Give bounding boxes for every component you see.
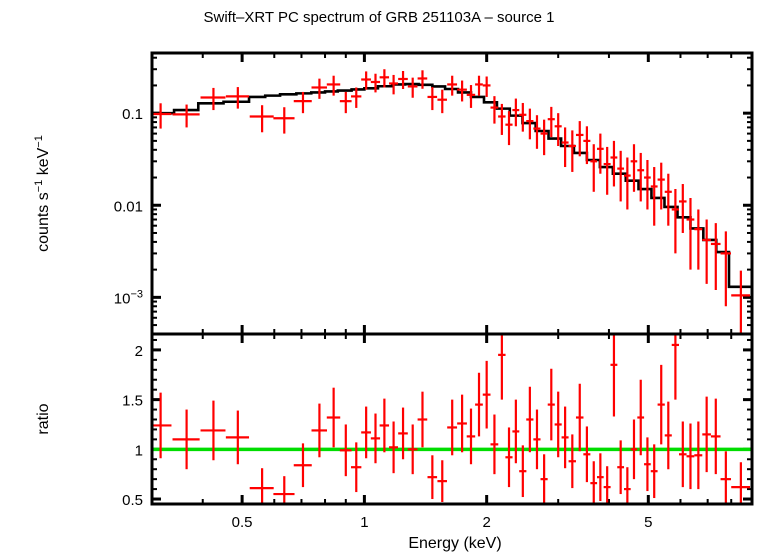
spectrum-panel: 0.10.0110−3 — [114, 53, 752, 334]
y-axis-label-ratio: ratio — [35, 403, 52, 434]
page-title: Swift–XRT PC spectrum of GRB 251103A – s… — [203, 9, 554, 26]
y-tick-label-ratio: 1.5 — [122, 393, 143, 410]
y-axis-label-spectrum: counts s−1 keV−1 — [33, 135, 52, 252]
y-tick-label-spectrum: 0.1 — [122, 106, 143, 123]
spectrum-plot: Swift–XRT PC spectrum of GRB 251103A – s… — [0, 0, 758, 556]
ratio-panel: 0.512521.510.5 — [122, 290, 752, 531]
chart-canvas: Swift–XRT PC spectrum of GRB 251103A – s… — [0, 0, 758, 556]
y-tick-label-spectrum: 10−3 — [114, 288, 143, 307]
x-tick-label: 1 — [360, 514, 368, 531]
y-tick-label-ratio: 1 — [135, 442, 143, 459]
y-tick-label-spectrum: 0.01 — [114, 198, 143, 215]
x-axis-label: Energy (keV) — [408, 535, 501, 552]
spectrum-data-points — [152, 69, 750, 334]
x-tick-label: 2 — [482, 514, 490, 531]
y-tick-label-ratio: 2 — [135, 343, 143, 360]
x-tick-label: 5 — [644, 514, 652, 531]
x-tick-label: 0.5 — [232, 514, 253, 531]
ratio-data-points — [152, 290, 750, 512]
y-tick-label-ratio: 0.5 — [122, 492, 143, 509]
